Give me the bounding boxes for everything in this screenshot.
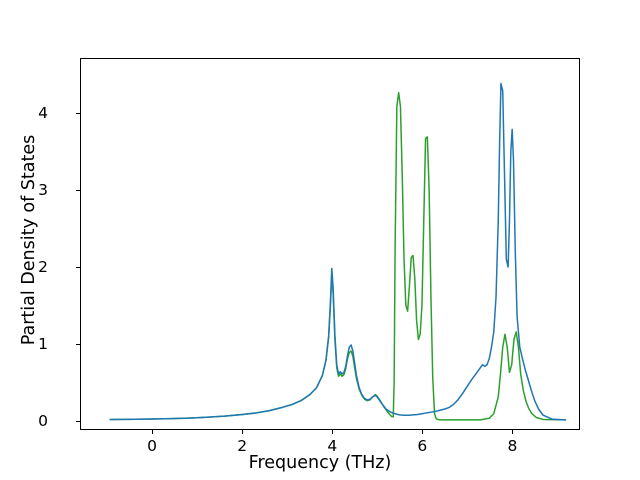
y-tick-mark [76,113,80,114]
y-axis-label: Partial Density of States [12,0,46,480]
x-tick-mark [332,430,333,434]
pdos-curves [81,59,579,429]
x-tick-mark [512,430,513,434]
series-1-line [110,83,565,419]
x-tick-mark [422,430,423,434]
x-tick-mark [152,430,153,434]
y-tick-mark [76,421,80,422]
y-tick-mark [76,190,80,191]
x-axis-label: Frequency (THz) [0,453,640,473]
x-tick-mark [242,430,243,434]
plot-axes-area [80,58,580,430]
y-tick-mark [76,344,80,345]
pdos-figure: 02468 01234 Frequency (THz) Partial Dens… [0,0,640,480]
y-tick-mark [76,267,80,268]
